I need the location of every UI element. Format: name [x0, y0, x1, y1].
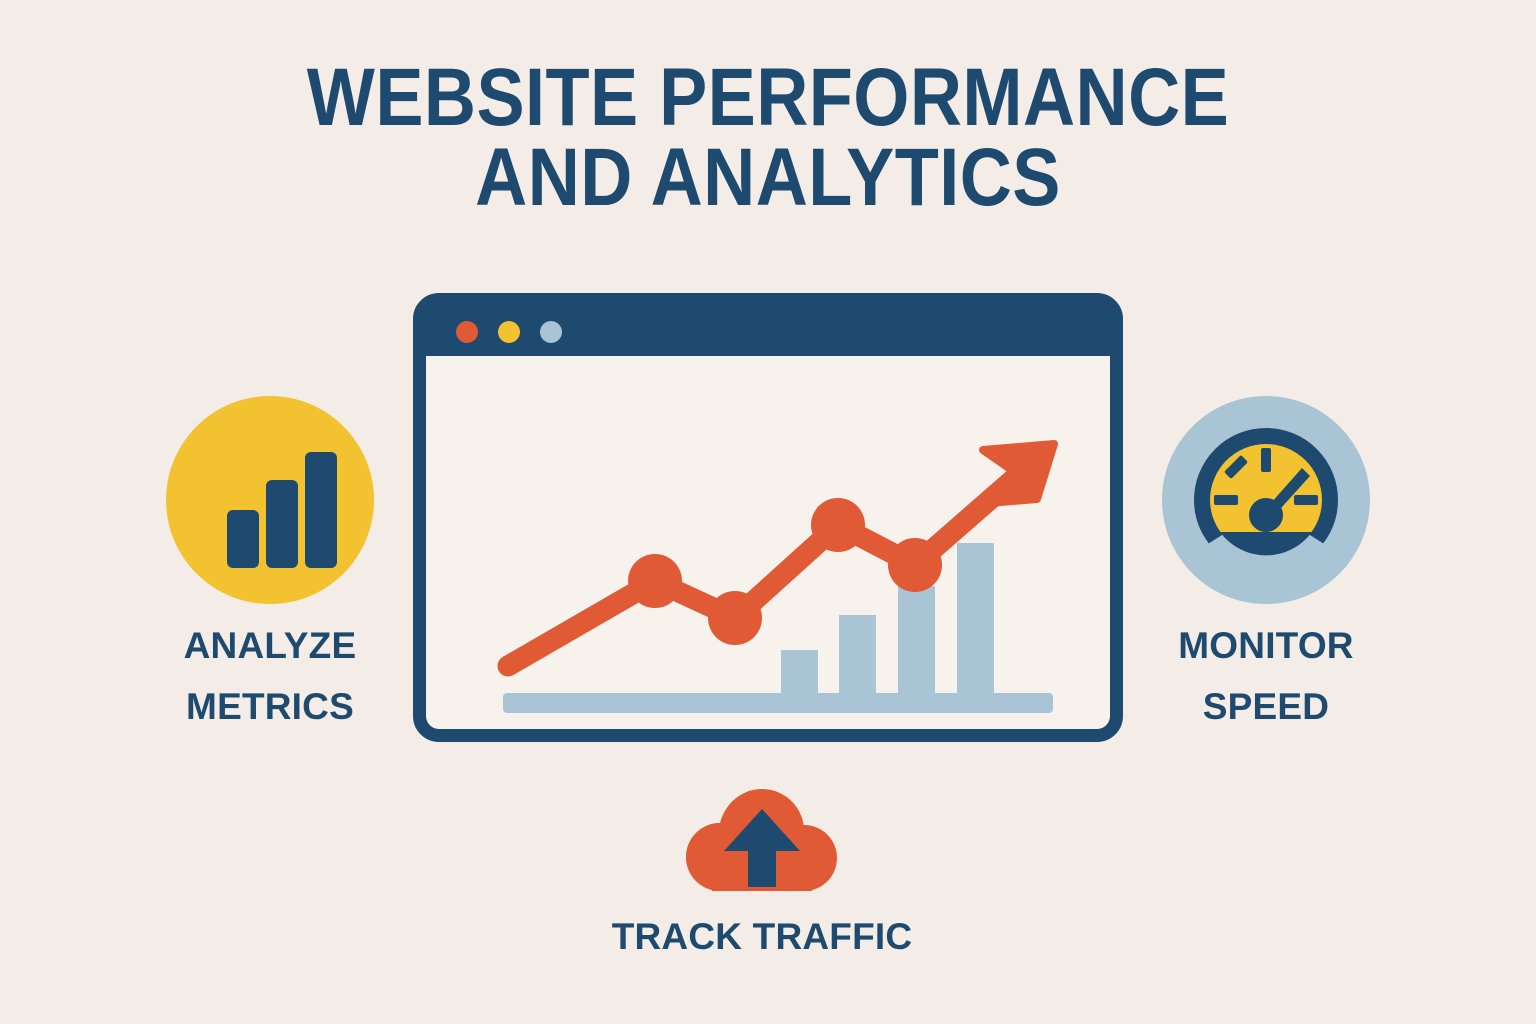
feature-label-line-1: TRACK TRAFFIC	[562, 917, 962, 956]
speedometer-icon	[1162, 396, 1370, 604]
feature-analyze-metrics[interactable]: ANALYZE METRICS	[90, 396, 450, 726]
browser-viewport	[426, 356, 1110, 729]
window-minimize-dot-icon[interactable]	[498, 321, 520, 343]
chart-bar	[898, 586, 935, 700]
page-title: WEBSITE PERFORMANCE AND ANALYTICS	[0, 58, 1536, 219]
cloud-upload-icon	[652, 779, 872, 899]
page-title-line-2: AND ANALYTICS	[92, 138, 1444, 218]
chart-bar	[781, 650, 818, 700]
feature-label-line-1: ANALYZE	[90, 626, 450, 665]
browser-window-mockup	[413, 293, 1123, 742]
chart-data-point-marker	[708, 591, 762, 645]
chart-data-point-marker	[888, 538, 942, 592]
bar-chart-icon	[166, 396, 374, 604]
window-maximize-dot-icon[interactable]	[540, 321, 562, 343]
analyze-metrics-badge[interactable]	[166, 396, 374, 604]
monitor-speed-badge[interactable]	[1162, 396, 1370, 604]
chart-data-point-marker	[811, 498, 865, 552]
chart-trend-arrowhead	[983, 444, 1054, 503]
page-title-line-1: WEBSITE PERFORMANCE	[92, 58, 1444, 138]
feature-monitor-speed[interactable]: MONITOR SPEED	[1086, 396, 1446, 726]
feature-label-line-1: MONITOR	[1086, 626, 1446, 665]
chart-bar	[839, 615, 876, 700]
track-traffic-badge[interactable]	[652, 779, 872, 899]
browser-titlebar	[426, 306, 1110, 356]
chart-trend-line	[508, 475, 1018, 666]
chart-data-point-marker	[628, 554, 682, 608]
infographic-canvas: WEBSITE PERFORMANCE AND ANALYTICS	[0, 0, 1536, 1024]
feature-label-line-2: METRICS	[90, 687, 450, 726]
analytics-chart	[426, 356, 1110, 729]
chart-bar	[957, 543, 994, 700]
window-close-dot-icon[interactable]	[456, 321, 478, 343]
feature-label-line-2: SPEED	[1086, 687, 1446, 726]
feature-track-traffic[interactable]: TRACK TRAFFIC	[562, 779, 962, 956]
